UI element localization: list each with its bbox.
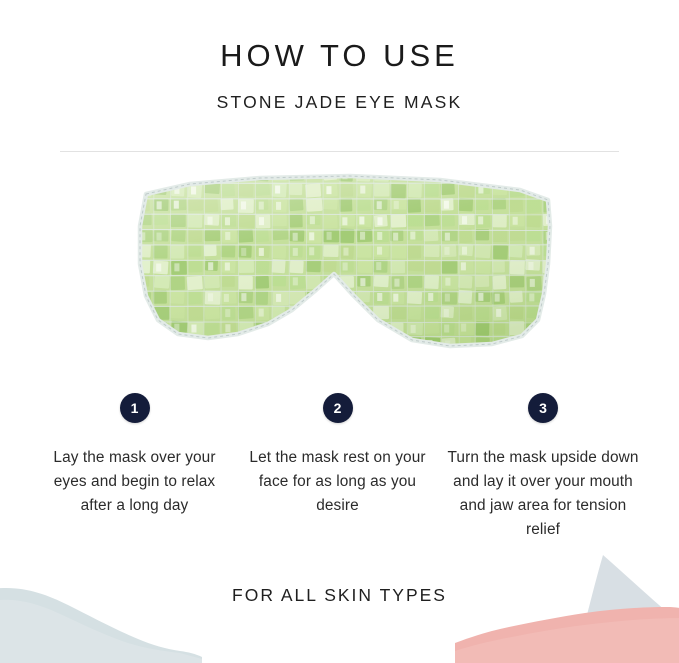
header: HOW TO USE STONE JADE EYE MASK xyxy=(0,0,679,113)
step-2: 2 Let the mask rest on your face for as … xyxy=(236,393,439,542)
page-subtitle: STONE JADE EYE MASK xyxy=(0,74,679,113)
step-1-text: Lay the mask over your eyes and begin to… xyxy=(33,446,236,518)
footer-note: FOR ALL SKIN TYPES xyxy=(0,585,679,606)
pink-watercolor-wash-icon xyxy=(455,555,679,663)
step-1-badge: 1 xyxy=(120,393,150,423)
step-2-badge: 2 xyxy=(323,393,353,423)
step-3-badge: 3 xyxy=(528,393,558,423)
step-3: 3 Turn the mask upside down and lay it o… xyxy=(440,393,646,542)
steps-row: 1 Lay the mask over your eyes and begin … xyxy=(0,393,679,542)
header-divider xyxy=(60,151,619,152)
how-to-use-infographic: HOW TO USE STONE JADE EYE MASK xyxy=(0,0,679,663)
page-title: HOW TO USE xyxy=(0,0,679,74)
step-2-text: Let the mask rest on your face for as lo… xyxy=(236,446,439,518)
step-3-text: Turn the mask upside down and lay it ove… xyxy=(440,446,646,542)
step-1: 1 Lay the mask over your eyes and begin … xyxy=(33,393,236,542)
product-image-stone-jade-eye-mask xyxy=(120,168,560,368)
